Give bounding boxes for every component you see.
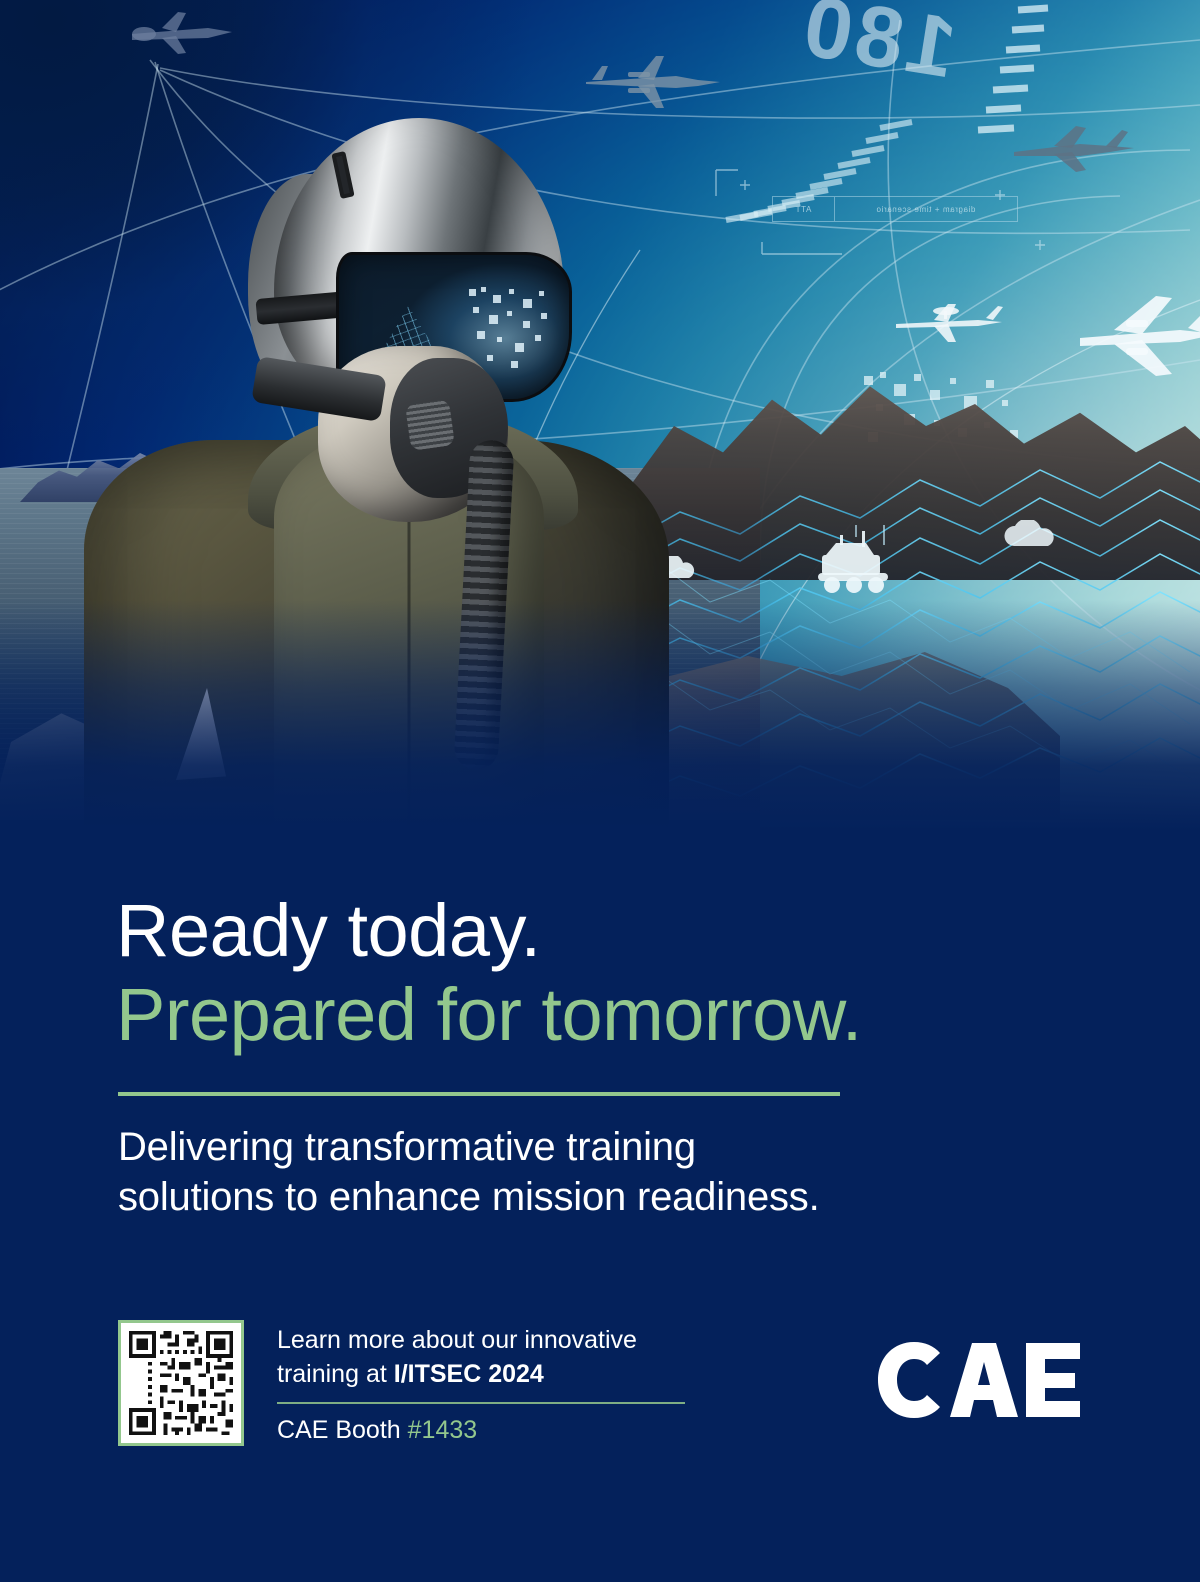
large-transport-silhouette: [1060, 290, 1200, 380]
drone-aircraft-silhouette: [122, 8, 248, 58]
booth-line: CAE Booth #1433: [277, 1416, 707, 1445]
subheading-block: Delivering transformative training solut…: [118, 1122, 938, 1223]
booth-prefix: CAE Booth: [277, 1416, 408, 1444]
awacs-aircraft-silhouette: [890, 296, 1010, 348]
transport-aircraft-silhouette: [580, 52, 730, 114]
cta-line-1: Learn more about our innovative: [277, 1324, 707, 1358]
booth-number: #1433: [408, 1416, 478, 1444]
headline-line-2: Prepared for tomorrow.: [116, 976, 1116, 1054]
subheading-line-2: solutions to enhance mission readiness.: [118, 1172, 938, 1222]
content-panel: Ready today. Prepared for tomorrow. Deli…: [0, 830, 1200, 1582]
subheading-line-1: Delivering transformative training: [118, 1122, 938, 1172]
cloud-icon: [1000, 520, 1064, 550]
cta-lead-2: training at: [277, 1360, 394, 1388]
green-divider: [118, 1092, 840, 1096]
cta-block: Learn more about our innovative training…: [277, 1324, 707, 1445]
fighter-jet-silhouette: [1010, 118, 1138, 178]
hero-fade-to-navy: [0, 600, 1200, 830]
headline-line-1: Ready today.: [116, 892, 1116, 970]
ground-vehicle-icon: [810, 525, 900, 599]
qr-code[interactable]: [118, 1320, 244, 1446]
qr-code-image: [125, 1327, 237, 1439]
cta-event-name: I/ITSEC 2024: [394, 1360, 544, 1388]
cta-line-2: training at I/ITSEC 2024: [277, 1358, 707, 1392]
hud-info-left: ATT: [795, 205, 811, 214]
visor-data-reflection: [467, 285, 563, 377]
cta-divider: [277, 1402, 685, 1404]
hud-info-bar: ATT diagram + time scenario: [772, 196, 1018, 222]
headline-block: Ready today. Prepared for tomorrow.: [116, 892, 1116, 1055]
cae-logo: [876, 1342, 1082, 1418]
oxygen-mask-valve: [405, 399, 455, 451]
footer-block: Learn more about our innovative training…: [0, 1320, 1200, 1530]
hud-info-right: diagram + time scenario: [876, 205, 975, 214]
hero-image: 180 ATT diagram + time scenario: [0, 0, 1200, 830]
